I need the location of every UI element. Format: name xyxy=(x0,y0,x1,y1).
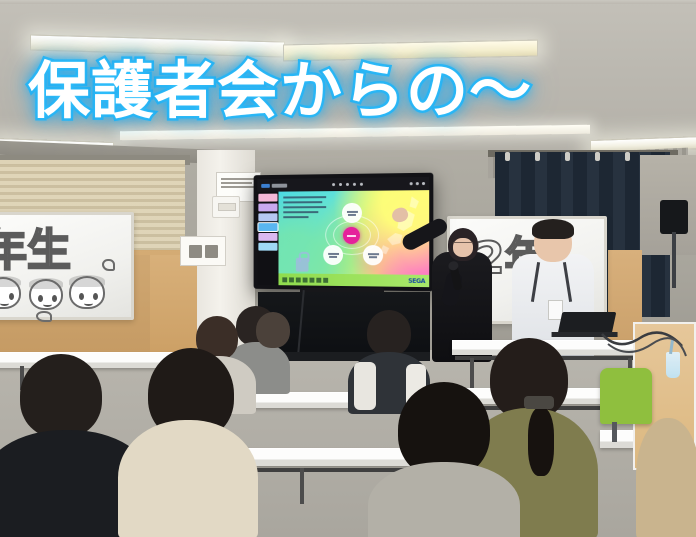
curtain-hook-icon xyxy=(505,152,510,161)
presenter-female-face xyxy=(453,238,473,257)
slide-footer-caption xyxy=(282,277,328,282)
whiteboard-doodle-face xyxy=(29,279,63,310)
slide-thumbnail[interactable] xyxy=(258,203,277,211)
sign-pictogram-icon xyxy=(189,245,202,258)
audience-member-head xyxy=(367,310,411,356)
share-icon[interactable] xyxy=(410,182,413,185)
eyeglasses-icon xyxy=(453,242,473,247)
toolbar-right-group[interactable] xyxy=(410,182,425,185)
wall-sign xyxy=(180,236,226,266)
slide-thumbnail-selected[interactable] xyxy=(258,223,277,231)
audience-backpack-strap xyxy=(354,362,376,410)
audience-member-body xyxy=(368,462,520,537)
diagram-node xyxy=(323,245,343,265)
classroom-chair[interactable] xyxy=(600,368,652,424)
curtain-hook-icon xyxy=(565,152,570,161)
poster-text-line xyxy=(221,186,255,188)
whiteboard-doodle-face xyxy=(0,277,21,309)
whiteboard-left: 年生 xyxy=(0,212,134,320)
slide-text-line xyxy=(283,206,326,208)
curtain-hook-icon xyxy=(595,152,600,161)
whiteboard-doodle-face xyxy=(69,276,105,309)
file-title-label xyxy=(272,183,287,187)
light-switch-plate[interactable] xyxy=(212,196,240,218)
sign-pictogram-icon xyxy=(205,245,218,258)
slide-text-line xyxy=(283,201,322,203)
diagram-node xyxy=(342,203,362,223)
slide-text-block xyxy=(283,196,326,221)
equipment-cables xyxy=(598,330,688,364)
app-menu-icon[interactable] xyxy=(261,183,270,187)
ceiling-seam xyxy=(0,0,696,4)
pa-speaker xyxy=(660,200,688,234)
slide-thumbnail[interactable] xyxy=(258,243,277,251)
hair-tie xyxy=(524,396,554,409)
slide-text-line xyxy=(283,216,309,218)
italic-icon[interactable] xyxy=(339,183,342,186)
desk-leg xyxy=(470,358,474,392)
desk-leg xyxy=(300,468,304,504)
overlay-title-text: 保護者会からの〜 xyxy=(28,58,568,123)
shape-icon[interactable] xyxy=(353,183,356,186)
photo-screenshot: 年生 2年 xyxy=(0,0,696,537)
lock-icon xyxy=(296,258,309,272)
avatar[interactable] xyxy=(422,182,425,185)
diagram-center-node xyxy=(343,227,360,244)
slide-thumbnail[interactable] xyxy=(258,213,277,221)
audience-member-body xyxy=(118,420,258,537)
present-icon[interactable] xyxy=(416,182,419,185)
slide-footer-logo: SEGA xyxy=(408,277,425,284)
poster-text-line xyxy=(221,182,252,184)
audience-member-body xyxy=(636,418,696,537)
slide-thumbnail-sidebar[interactable] xyxy=(257,192,278,286)
whiteboard-left-label: 年生 xyxy=(0,229,71,273)
whiteboard-doodle-mark xyxy=(36,311,52,322)
staff-male-hair xyxy=(532,219,574,239)
align-icon[interactable] xyxy=(346,183,349,186)
slide-thumbnail[interactable] xyxy=(258,233,277,241)
audience-member-head xyxy=(20,354,102,438)
image-icon[interactable] xyxy=(360,183,363,186)
speaker-stand-pole xyxy=(672,232,676,288)
diagram-node xyxy=(363,245,383,265)
poster-text-line xyxy=(221,178,256,180)
bold-icon[interactable] xyxy=(332,183,335,186)
toolbar-left-group[interactable] xyxy=(261,183,287,187)
curtain-hook-icon xyxy=(625,152,630,161)
audience-ponytail xyxy=(528,408,554,476)
whiteboard-doodle-mark xyxy=(102,259,115,271)
slide-footer-bar: SEGA xyxy=(278,273,429,287)
curtain-hook-icon xyxy=(535,152,540,161)
slide-thumbnail[interactable] xyxy=(258,194,277,202)
toolbar-center-group[interactable] xyxy=(290,182,406,186)
slide-text-line xyxy=(283,211,318,213)
slide-text-line xyxy=(283,196,326,198)
presentation-display[interactable]: SEGA xyxy=(254,173,434,292)
audience-member-head xyxy=(256,312,290,348)
